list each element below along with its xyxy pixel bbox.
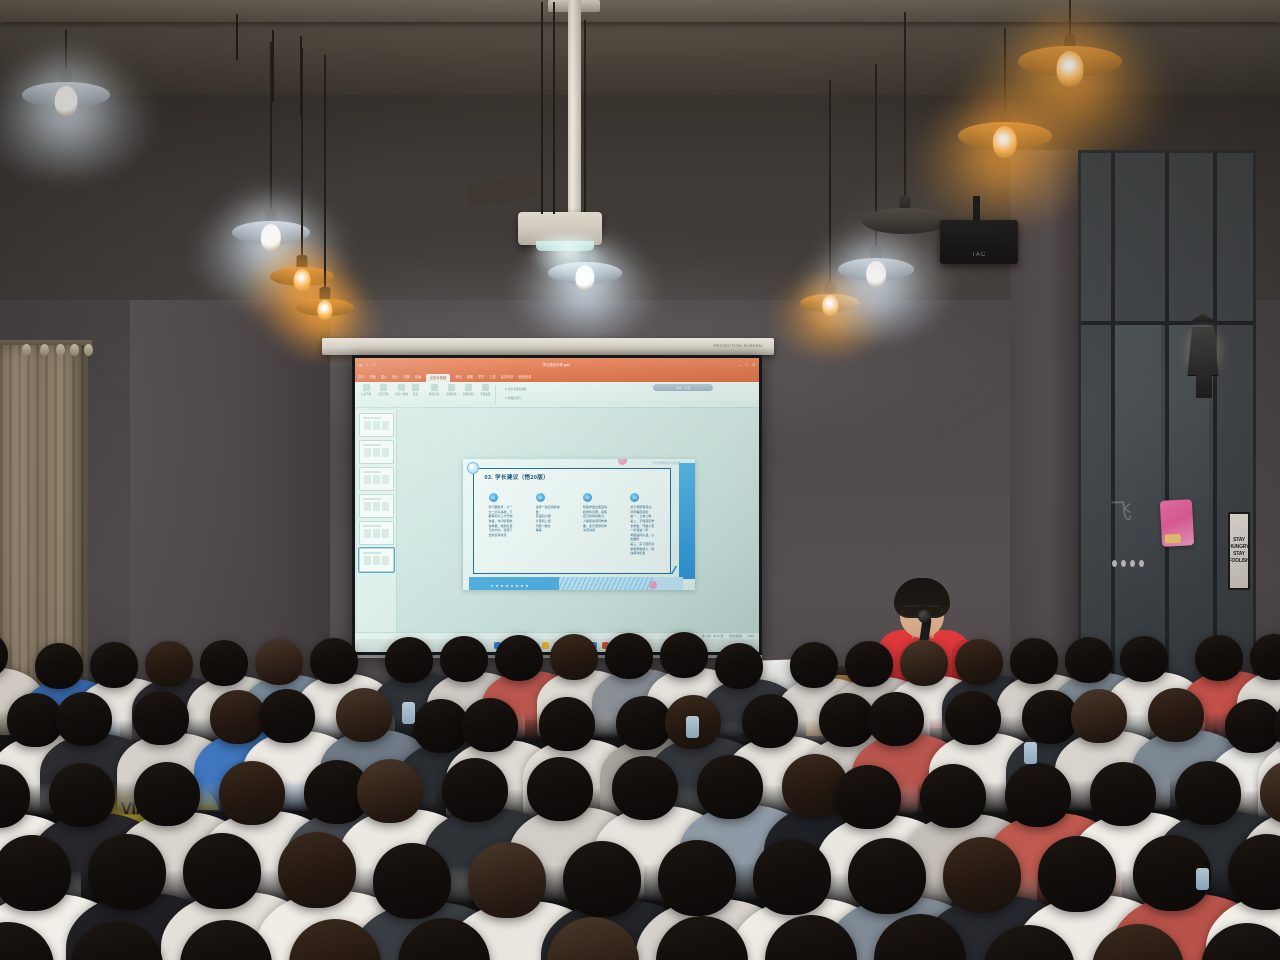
slide-columns: 01学习要趁早，大一 大二打好基础，不 要等到大三才开始 准备，时间管理非 常重… <box>489 493 667 556</box>
slide-corner-accent <box>667 566 681 574</box>
slide-thumbnail-6[interactable] <box>359 548 394 572</box>
thumb-title-bar <box>363 498 381 500</box>
audience-member-head <box>442 758 508 822</box>
thumb-block <box>382 556 389 565</box>
audience-member-head <box>210 690 266 744</box>
projector-pole <box>568 0 581 215</box>
phone-screen <box>686 716 699 738</box>
audience-member-head <box>563 841 641 917</box>
light-hanger-rod <box>300 36 302 116</box>
thumb-block <box>382 475 389 484</box>
audience-member-head <box>1201 923 1280 960</box>
audience-member-head <box>183 833 261 909</box>
audience-member-head <box>715 643 763 689</box>
light-cord <box>324 55 326 295</box>
sign-line-1: STAY <box>1233 538 1245 543</box>
thumb-block <box>382 421 389 430</box>
slide-column-number: 02 <box>536 493 545 502</box>
sign-line-3: STAY <box>1233 552 1245 557</box>
ribbon-tab-动画[interactable]: 动画 <box>415 374 421 379</box>
curtain-grommet <box>40 344 49 356</box>
slide-title: 03. 学长建议（悟20版） <box>485 473 550 481</box>
light-cord <box>1004 28 1006 118</box>
audience-member-head <box>1005 763 1071 827</box>
slide-column-body: 学习要趁早，大一 大二打好基础，不 要等到大三才开始 准备，时间管理非 常重要，… <box>489 505 525 537</box>
ribbon-command-label: 自定义放映 <box>395 392 408 396</box>
light-bulb <box>1056 51 1083 86</box>
thumb-block <box>373 448 380 457</box>
slide-footer-dot <box>496 585 498 587</box>
thumb-block <box>364 529 371 538</box>
audience-member-head <box>920 764 986 828</box>
audience-member-head <box>145 641 193 687</box>
ribbon-command-手机遥控[interactable]: 手机遥控 <box>480 384 490 396</box>
audience-member-head <box>900 640 948 686</box>
audience-member-head <box>440 636 488 682</box>
ribbon-command-会议[interactable]: 会议 <box>412 384 419 396</box>
thumb-block <box>364 475 371 484</box>
slide-column-body: 积极参加社团活动 和学科竞赛，锻炼 自己的综合能力， 人脉和资源同样重 要，多与… <box>583 505 619 533</box>
door-calligraphy-decal: 飞 <box>1110 500 1156 566</box>
decal-dot <box>1121 560 1126 567</box>
ribbon-command-演讲备注[interactable]: 演讲备注 <box>446 384 456 396</box>
ribbon-checkbox-显示演讲者视图[interactable]: ☑ 显示演讲者视图 <box>505 387 526 391</box>
audience-member <box>398 918 541 960</box>
curtain-grommet <box>70 344 79 356</box>
audience-member-head <box>1120 636 1168 682</box>
light-cord <box>904 12 906 204</box>
ribbon-command-label: 排练计时 <box>429 392 439 396</box>
ribbon-tab-开始[interactable]: 开始 <box>369 374 375 379</box>
slide-hatch-pattern <box>559 577 655 590</box>
ribbon-tab-幻灯片放映[interactable]: 幻灯片放映 <box>426 374 450 382</box>
ribbon-command-从头开始[interactable]: 从头开始 <box>361 384 371 396</box>
pendant-light <box>1018 0 1122 146</box>
audience-member-head <box>56 692 112 746</box>
audience-member-head <box>1175 761 1241 825</box>
ribbon-tab-设计[interactable]: 设计 <box>392 374 398 379</box>
ribbon-command-屏幕录制[interactable]: 屏幕录制 <box>463 384 473 396</box>
slide-thumbnail-1[interactable] <box>359 413 394 437</box>
ribbon-command-label: 会议 <box>413 392 418 396</box>
slide-footer-dot <box>516 585 518 587</box>
thumb-block <box>364 556 371 565</box>
thumb-block <box>382 448 389 457</box>
slide-thumbnail-2[interactable] <box>359 440 394 464</box>
door-decal-dots <box>1112 560 1144 567</box>
meeting-icon <box>412 384 419 391</box>
quick-access-redo-icon[interactable]: ↷ <box>373 363 376 367</box>
audience-member-head <box>697 755 763 819</box>
audience-member-head <box>1250 634 1280 680</box>
light-bulb <box>55 86 78 116</box>
slide-thumbnail-pane[interactable] <box>357 410 397 640</box>
audience-member-head <box>413 699 469 753</box>
ribbon-separator <box>495 385 496 405</box>
audience-member-head <box>835 765 901 829</box>
audience-member-head <box>955 639 1003 685</box>
ribbon-tab-插入[interactable]: 插入 <box>381 374 387 379</box>
slide-decor-dot <box>649 581 657 589</box>
slide-column-body: 关于考研和就业： 尽早确定目标 第一，上岸上岸 第二，不懂就问学 长学姐，弯路少… <box>630 505 666 556</box>
audience-member-head <box>398 918 490 960</box>
sign-line-2: HUNGRY <box>1229 545 1249 550</box>
notes-icon <box>448 384 455 391</box>
light-cord <box>829 80 831 290</box>
audience-member-head <box>550 634 598 680</box>
audience-member-head <box>7 693 63 747</box>
slide-column-03: 03积极参加社团活动 和学科竞赛，锻炼 自己的综合能力， 人脉和资源同样重 要，… <box>583 493 619 556</box>
document-title: 学长建议分享.pptx <box>542 362 570 367</box>
remote-icon <box>482 384 489 391</box>
pink-poster <box>1160 499 1194 547</box>
thumb-block <box>373 556 380 565</box>
audience-member-head <box>1092 924 1184 960</box>
light-shade <box>862 208 948 234</box>
slide-footer-dot <box>526 585 528 587</box>
framed-motivational-sign: STAY HUNGRY STAY FOOLISH <box>1228 512 1250 590</box>
curtain-grommet <box>22 344 31 356</box>
audience-member-head <box>200 640 248 686</box>
audience-member-head <box>819 693 875 747</box>
thumb-block <box>364 502 371 511</box>
minimize-button[interactable]: — <box>737 362 741 367</box>
audience-member-head <box>945 691 1001 745</box>
slide-column-body: 多学一些实用的技 能： 英语四六级 计算机二级 驾照 / 教资 等等 <box>536 505 572 533</box>
phone-screen <box>402 702 415 724</box>
ribbon-command-自定义放映[interactable]: 自定义放映 <box>395 384 408 396</box>
custom-show-icon <box>398 384 405 391</box>
decal-dot <box>1130 560 1135 567</box>
audience-member-head <box>385 637 433 683</box>
audience-member-head <box>1090 762 1156 826</box>
audience-member-head <box>1065 637 1113 683</box>
slide-header-note: 学长学姐经验分享交流会 <box>652 461 681 465</box>
current-slide: 学长学姐经验分享交流会 03. 学长建议（悟20版） 01学习要趁早，大一 大二… <box>463 459 695 590</box>
ribbon-command-label: 屏幕录制 <box>463 392 473 396</box>
audience-member-head <box>495 635 543 681</box>
audience-member-head <box>336 688 392 742</box>
ribbon-tab-视图[interactable]: 视图 <box>467 374 473 379</box>
thumb-title-bar <box>363 417 381 419</box>
thumb-block <box>373 529 380 538</box>
audience-member-head <box>943 837 1021 913</box>
play-icon <box>363 384 370 391</box>
light-hanger-rod <box>272 30 274 102</box>
share-button[interactable]: 协作 · 分享 <box>653 384 713 391</box>
projector-cable <box>541 2 543 214</box>
slide-column-number: 03 <box>583 493 592 502</box>
thumb-block <box>364 421 371 430</box>
audience-member-head <box>1228 834 1280 910</box>
slide-footer-dots <box>491 585 528 587</box>
projected-desktop: ▤ ↶ ↷ 学长建议分享.pptx — □ ✕ 文件开始插入设计切换动画幻灯片放… <box>355 358 759 652</box>
light-hanger-rod <box>236 14 238 60</box>
record-icon <box>465 384 472 391</box>
audience-member-head <box>373 843 451 919</box>
audience-member-head <box>527 757 593 821</box>
ribbon-command-当页开始[interactable]: 当页开始 <box>378 384 388 396</box>
audience-member-head <box>259 689 315 743</box>
wall-speaker: TAC <box>940 220 1018 264</box>
ribbon-tab-切换[interactable]: 切换 <box>404 374 410 379</box>
ribbon-command-排练计时[interactable]: 排练计时 <box>429 384 439 396</box>
audience-member-head <box>742 694 798 748</box>
timer-icon <box>431 384 438 391</box>
quick-access-save-icon[interactable]: ▤ <box>359 363 362 367</box>
audience-member-head <box>1071 689 1127 743</box>
app-title-bar: ▤ ↶ ↷ 学长建议分享.pptx — □ ✕ <box>355 358 759 371</box>
audience-member-head <box>134 762 200 826</box>
slide-footer-dot <box>511 585 513 587</box>
audience-member-head <box>1260 760 1280 824</box>
ribbon-command-label: 当页开始 <box>378 392 388 396</box>
thumb-block <box>373 502 380 511</box>
thumb-block <box>364 448 371 457</box>
thumb-title-bar <box>363 552 381 554</box>
play-page-icon <box>380 384 387 391</box>
audience-member-head <box>983 925 1075 960</box>
decal-dot <box>1139 560 1144 567</box>
close-button[interactable]: ✕ <box>752 362 755 367</box>
light-bulb <box>317 300 332 320</box>
curtain-grommet <box>56 344 65 356</box>
audience-member-head <box>0 835 71 911</box>
phone-screen <box>1024 742 1037 764</box>
audience-member-head <box>289 919 381 960</box>
slide-column-02: 02多学一些实用的技 能： 英语四六级 计算机二级 驾照 / 教资 等等 <box>536 493 572 556</box>
speaker-bracket <box>973 196 980 222</box>
audience-member-head <box>133 691 189 745</box>
audience-member <box>1201 923 1280 960</box>
thumb-block <box>373 421 380 430</box>
audience-member-head <box>35 643 83 689</box>
audience-crowd <box>0 620 1280 960</box>
audience-member-head <box>49 763 115 827</box>
projector-beam-glow <box>528 236 608 282</box>
speaker-logo: TAC <box>972 252 987 258</box>
slide-editing-area[interactable]: 学长学姐经验分享交流会 03. 学长建议（悟20版） 01学习要趁早，大一 大二… <box>401 410 756 639</box>
decal-dot <box>1112 560 1117 567</box>
audience-member-head <box>278 832 356 908</box>
slide-footer-dot <box>501 585 503 587</box>
audience-member-head <box>656 916 748 960</box>
projection-screen-housing: PROJECTION SCREEN <box>322 338 774 355</box>
audience-member-head <box>357 759 423 823</box>
ribbon-checkbox-隐藏幻灯片[interactable]: ☑ 隐藏幻灯片 <box>505 396 521 400</box>
ribbon-tab-文件[interactable]: 文件 <box>358 374 364 379</box>
light-bulb <box>993 126 1017 158</box>
audience-member-head <box>790 642 838 688</box>
audience-member-head <box>180 920 272 960</box>
quick-access-undo-icon[interactable]: ↶ <box>366 363 369 367</box>
slide-column-number: 01 <box>489 493 498 502</box>
audience-member-head <box>255 639 303 685</box>
audience-member-head <box>1225 699 1280 753</box>
audience-member-head <box>753 839 831 915</box>
audience-member-head <box>88 834 166 910</box>
audience-member-head <box>605 633 653 679</box>
audience-member-head <box>1010 638 1058 684</box>
ribbon-tab-稻壳资源[interactable]: 稻壳资源 <box>518 374 531 379</box>
compass-icon <box>467 462 479 474</box>
thumb-title-bar <box>363 444 381 446</box>
slide-footer-dot <box>491 585 493 587</box>
ribbon-command-label: 演讲备注 <box>446 392 456 396</box>
ribbon-tab-strip[interactable]: 文件开始插入设计切换动画幻灯片放映审阅视图章节工具会员专享稻壳资源 <box>355 371 759 382</box>
slide-accent-right <box>679 463 695 579</box>
audience-member-head <box>868 692 924 746</box>
pendant-light <box>548 20 622 332</box>
ribbon-command-label: 手机遥控 <box>480 392 490 396</box>
audience-member-head <box>1038 836 1116 912</box>
lantern-wall-arm <box>1196 374 1212 398</box>
phone-screen <box>1196 868 1209 890</box>
audience-member-head <box>0 922 54 960</box>
slide-column-04: 04关于考研和就业： 尽早确定目标 第一，上岸上岸 第二，不懂就问学 长学姐，弯… <box>630 493 666 556</box>
thumb-block <box>382 502 389 511</box>
lecture-hall-photo: TAC PROJECTION SCREEN ▤ ↶ ↷ 学长建议分享.pptx … <box>0 0 1280 960</box>
slide-column-01: 01学习要趁早，大一 大二打好基础，不 要等到大三才开始 准备，时间管理非 常重… <box>489 493 525 556</box>
audience-member-head <box>848 838 926 914</box>
thumb-title-bar <box>363 525 381 527</box>
audience-member-head <box>874 914 966 960</box>
light-bulb <box>822 295 838 315</box>
audience-member-head <box>612 756 678 820</box>
audience-member-head <box>547 917 639 960</box>
slide-footer-dot <box>506 585 508 587</box>
audience-member-head <box>468 842 546 918</box>
audience-member-head <box>1148 688 1204 742</box>
audience-member-head <box>539 697 595 751</box>
ribbon-tab-章节[interactable]: 章节 <box>478 374 484 379</box>
audience-member-head <box>658 840 736 916</box>
sign-line-4: FOOLISH <box>1229 559 1250 564</box>
ribbon-tab-会员专享[interactable]: 会员专享 <box>501 374 514 379</box>
audience-member-head <box>90 642 138 688</box>
slide-decor-dot <box>618 459 627 465</box>
pendant-light <box>22 30 110 166</box>
ribbon-tab-工具[interactable]: 工具 <box>489 374 495 379</box>
thumb-block <box>382 529 389 538</box>
audience-member-head <box>310 638 358 684</box>
pendant-light <box>862 12 948 290</box>
slide-thumbnail-5[interactable] <box>359 521 394 545</box>
audience-member-head <box>845 641 893 687</box>
ribbon-tab-审阅[interactable]: 审阅 <box>455 374 461 379</box>
curtain-grommet <box>84 344 93 356</box>
slide-thumbnail-3[interactable] <box>359 467 394 491</box>
maximize-button[interactable]: □ <box>745 362 747 367</box>
audience-member-head <box>1195 635 1243 681</box>
audience-member-head <box>462 698 518 752</box>
ribbon-command-label: 从头开始 <box>361 392 371 396</box>
audience-member-head <box>219 761 285 825</box>
pendant-light <box>296 55 354 353</box>
thumb-block <box>373 475 380 484</box>
slide-thumbnail-4[interactable] <box>359 494 394 518</box>
thumb-title-bar <box>363 471 381 473</box>
audience-member-head <box>1274 698 1280 752</box>
projection-screen: ▤ ↶ ↷ 学长建议分享.pptx — □ ✕ 文件开始插入设计切换动画幻灯片放… <box>352 355 762 655</box>
slide-footer-dot <box>521 585 523 587</box>
slide-column-number: 04 <box>630 493 639 502</box>
projector-cable <box>553 2 555 214</box>
audience-member-head <box>1022 690 1078 744</box>
audience-member-head <box>616 696 672 750</box>
audience-member-head <box>660 632 708 678</box>
screen-brand-mark: PROJECTION SCREEN <box>713 343 762 348</box>
audience-member-head <box>765 915 857 960</box>
audience-member-head <box>71 921 163 960</box>
